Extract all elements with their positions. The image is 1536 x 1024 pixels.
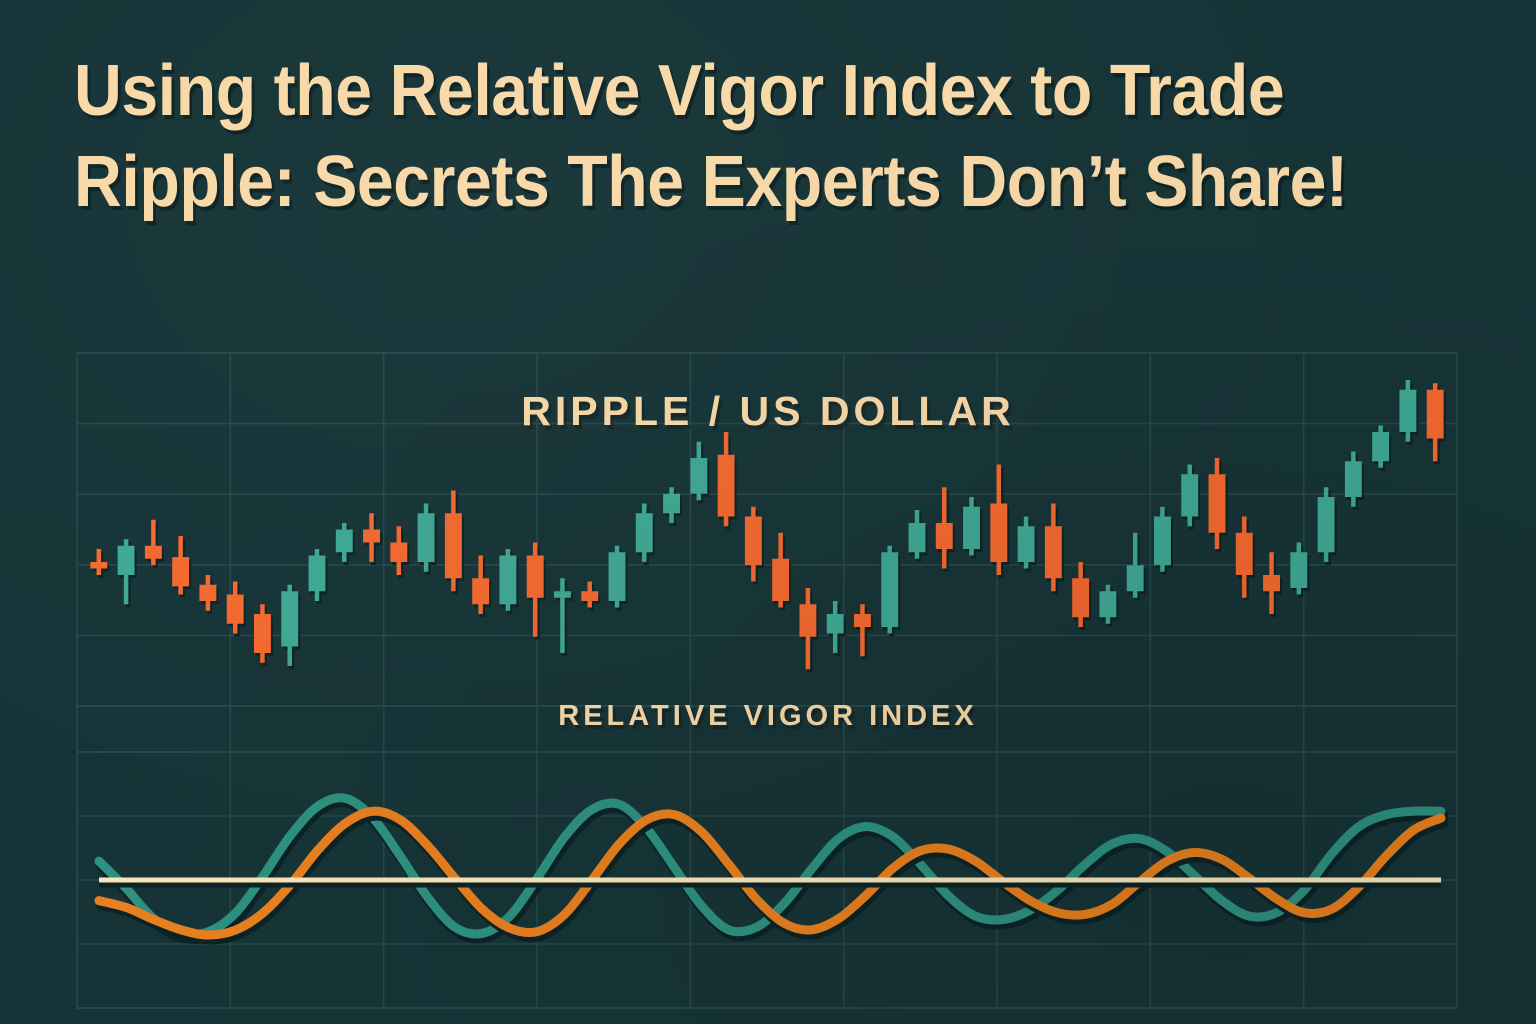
candle-body xyxy=(854,614,871,627)
candle-body xyxy=(1236,533,1253,575)
candle-body xyxy=(90,562,107,569)
candle-body xyxy=(254,614,271,653)
candle-body xyxy=(663,494,680,514)
candle-body xyxy=(1372,432,1389,461)
candlestick xyxy=(309,549,328,604)
candle-body xyxy=(909,523,926,552)
candle-body xyxy=(690,458,707,494)
candle-body xyxy=(1427,390,1444,439)
candle-body xyxy=(990,504,1007,563)
candlestick xyxy=(1045,504,1064,595)
candlestick xyxy=(1372,426,1391,471)
candlestick xyxy=(118,539,137,607)
candle-body xyxy=(1045,526,1062,578)
candlestick xyxy=(172,536,191,598)
candlestick xyxy=(254,604,273,666)
candlestick xyxy=(1290,543,1309,598)
trading-chart: RIPPLE / US DOLLAR RELATIVE VIGOR INDEX xyxy=(0,0,1536,1024)
candle-body xyxy=(309,556,326,592)
candlestick xyxy=(418,504,437,575)
candle-body xyxy=(1263,575,1280,591)
candle-body xyxy=(609,552,626,601)
candlestick xyxy=(90,549,109,578)
candlestick xyxy=(772,533,791,611)
candle-body xyxy=(963,507,980,549)
candle-body xyxy=(118,546,135,575)
candlestick xyxy=(363,513,382,565)
candlestick xyxy=(581,582,600,611)
candlestick xyxy=(690,442,709,504)
price-panel-label: RIPPLE / US DOLLAR xyxy=(521,388,1014,434)
candle-body xyxy=(581,591,598,601)
candlestick xyxy=(1427,383,1446,464)
candlestick xyxy=(827,601,846,656)
candle-body xyxy=(636,513,653,552)
candlestick xyxy=(145,520,164,569)
candle-body xyxy=(1072,578,1089,617)
candlestick xyxy=(336,523,355,565)
rvi-series xyxy=(99,798,1443,939)
candlestick xyxy=(1263,552,1282,617)
candlestick xyxy=(609,546,628,611)
candle-body xyxy=(1399,390,1416,432)
candlestick xyxy=(1154,507,1173,575)
candle-body xyxy=(827,614,844,634)
candlestick xyxy=(663,487,682,526)
candle-body xyxy=(172,557,189,586)
rvi-centerline xyxy=(99,880,1441,884)
candlestick xyxy=(854,604,873,659)
candle-body xyxy=(1345,461,1362,497)
candlestick xyxy=(554,578,573,656)
candlestick xyxy=(1018,517,1037,572)
candle-body xyxy=(1209,474,1226,533)
chart-container: RIPPLE / US DOLLAR RELATIVE VIGOR INDEX xyxy=(0,0,1536,1024)
candle-body xyxy=(1127,565,1144,591)
candlestick xyxy=(990,465,1009,579)
candlestick xyxy=(527,543,546,640)
candle-body xyxy=(281,591,298,646)
candlestick xyxy=(1399,380,1418,445)
candle-body xyxy=(1018,526,1035,562)
candlestick xyxy=(499,549,518,614)
candlestick xyxy=(718,432,737,529)
candlestick xyxy=(390,526,409,578)
candlestick xyxy=(445,491,464,595)
candle-body xyxy=(745,517,762,566)
candle-body xyxy=(718,455,735,517)
candle-body xyxy=(1154,517,1171,566)
candle-body xyxy=(199,585,216,601)
candlestick xyxy=(1181,465,1200,530)
candle-body xyxy=(1181,474,1198,516)
candle-body xyxy=(445,513,462,578)
candle-body xyxy=(554,591,571,598)
candle-body xyxy=(1318,497,1335,552)
candlestick xyxy=(963,497,982,559)
candle-body xyxy=(418,513,435,562)
candle-body xyxy=(799,604,816,637)
candle-body xyxy=(145,546,162,559)
candle-body xyxy=(336,530,353,553)
candlestick xyxy=(909,510,928,562)
candlestick xyxy=(1345,452,1364,510)
rvi-panel-label: RELATIVE VIGOR INDEX xyxy=(558,700,977,732)
candlestick xyxy=(745,507,764,585)
candlestick xyxy=(1072,562,1091,630)
candle-body xyxy=(772,559,789,601)
candlestick xyxy=(1318,487,1337,565)
candle-body xyxy=(472,578,489,604)
candlestick xyxy=(636,504,655,566)
candle-body xyxy=(499,556,516,605)
candle-body xyxy=(1099,591,1116,617)
candle-body xyxy=(390,543,407,563)
candlestick xyxy=(936,487,955,571)
candle-body xyxy=(936,523,953,549)
candlestick xyxy=(281,585,300,669)
candlestick xyxy=(1099,585,1118,627)
candle-body xyxy=(527,556,544,598)
candle-body xyxy=(1290,552,1307,588)
candlestick xyxy=(881,546,900,637)
candlestick xyxy=(199,575,218,614)
candlestick xyxy=(1127,533,1146,601)
candle-body xyxy=(227,595,244,624)
candlestick xyxy=(1209,458,1228,552)
candlestick xyxy=(1236,517,1255,601)
candlestick xyxy=(799,588,818,672)
candle-body xyxy=(363,530,380,543)
candle-body xyxy=(881,552,898,627)
